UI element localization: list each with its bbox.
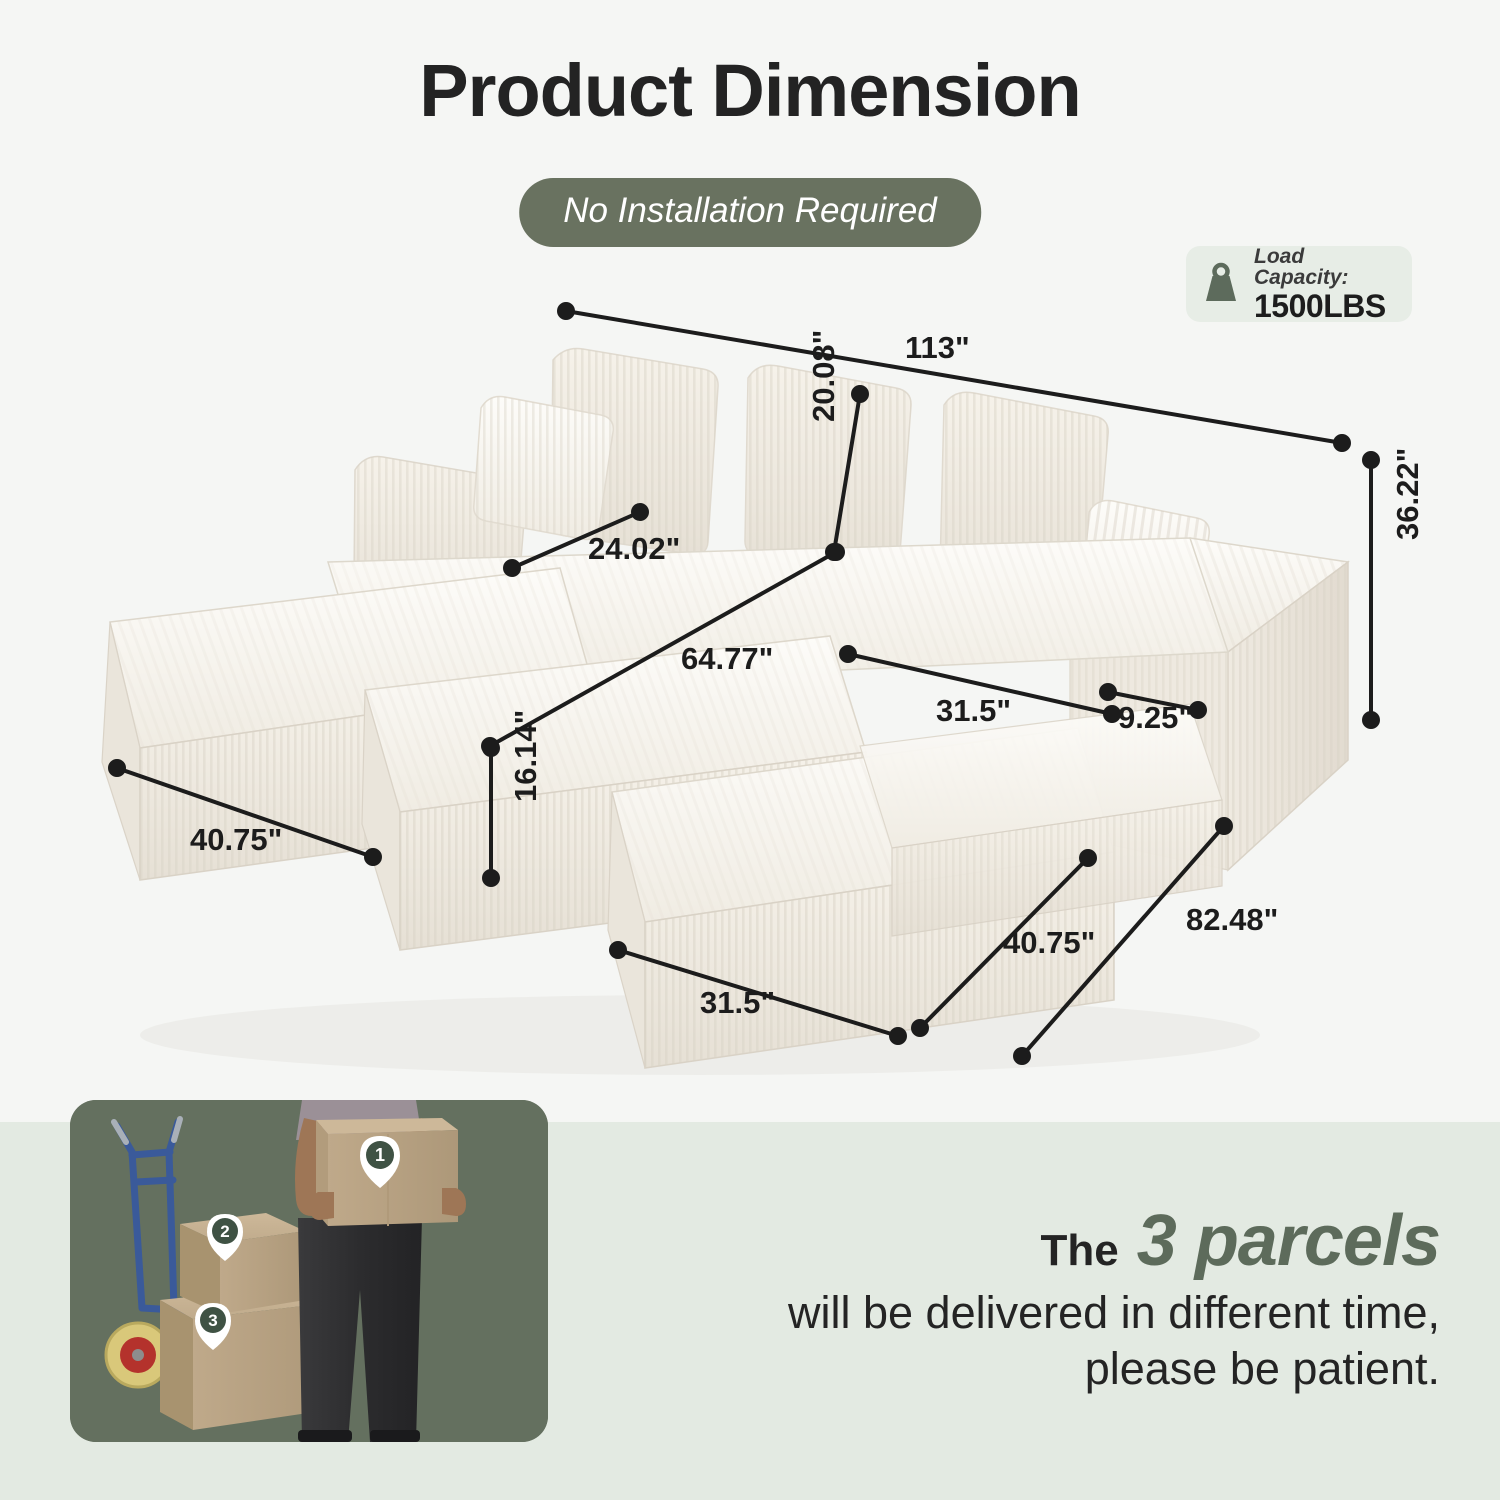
- dim-overall-height: 36.22": [1390, 448, 1426, 540]
- svg-text:3: 3: [208, 1311, 217, 1330]
- delivery-parcel-count: 3 parcels: [1137, 1201, 1440, 1281]
- load-capacity-label: Load Capacity:: [1254, 246, 1400, 288]
- accent-pillow-left: [474, 396, 614, 539]
- dim-armrest-width: 9.25": [1118, 700, 1193, 736]
- delivery-photo: 1 2 3: [70, 1100, 548, 1442]
- dim-overall-depth: 82.48": [1186, 902, 1278, 938]
- delivery-line-3: please be patient.: [600, 1341, 1440, 1397]
- delivery-line-2: will be delivered in different time,: [600, 1285, 1440, 1341]
- dim-backrest-height: 20.08": [806, 330, 842, 422]
- right-seat-module: [860, 704, 1222, 936]
- no-installation-badge: No Installation Required: [519, 178, 981, 247]
- dim-overall-width: 113": [905, 330, 970, 366]
- dim-seat-depth: 24.02": [588, 531, 680, 567]
- dim-module-depth: 40.75": [1003, 925, 1095, 961]
- delivery-headline: The 3 parcels: [600, 1205, 1440, 1277]
- dim-ottoman-depth: 31.5": [700, 985, 775, 1021]
- product-dimension-section: Product Dimension No Installation Requir…: [0, 0, 1500, 1122]
- delivery-the: The: [1041, 1226, 1119, 1275]
- svg-text:2: 2: [220, 1222, 229, 1241]
- dim-seat-height: 16.14": [508, 710, 544, 802]
- delivery-message: The 3 parcels will be delivered in diffe…: [600, 1205, 1440, 1398]
- page-title: Product Dimension: [0, 48, 1500, 133]
- dim-chaise-depth: 40.75": [190, 822, 282, 858]
- dim-ottoman-width: 31.5": [936, 693, 1011, 729]
- dim-seat-length: 64.77": [681, 641, 773, 677]
- svg-text:1: 1: [375, 1145, 385, 1165]
- sofa-illustration: [0, 300, 1500, 1090]
- infographic-root: Product Dimension No Installation Requir…: [0, 0, 1500, 1500]
